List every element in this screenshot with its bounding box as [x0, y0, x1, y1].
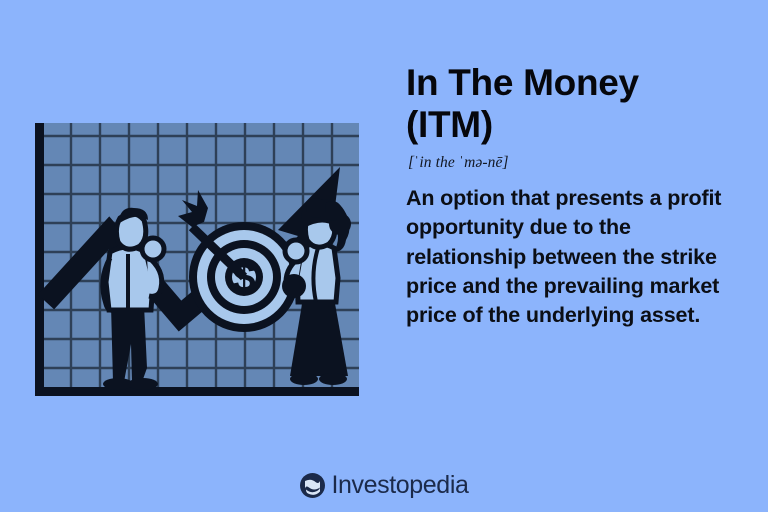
pronunciation-text: [ˈin the ˈmə-nē] [408, 154, 740, 172]
term-text-column: In The Money (ITM) [ˈin the ˈmə-nē] An o… [406, 62, 740, 330]
stock-chart-illustration: $ [32, 120, 362, 403]
definition-card: $ [0, 0, 768, 512]
chart-graphic: $ [32, 120, 362, 403]
definition-text: An option that presents a profit opportu… [406, 184, 740, 330]
page-title: In The Money (ITM) [406, 62, 740, 146]
dollar-sign: $ [232, 254, 255, 301]
investopedia-circle-logo-icon [300, 473, 325, 498]
investopedia-wordmark: Investopedia [332, 473, 469, 498]
investopedia-logo: Investopedia [0, 473, 768, 498]
